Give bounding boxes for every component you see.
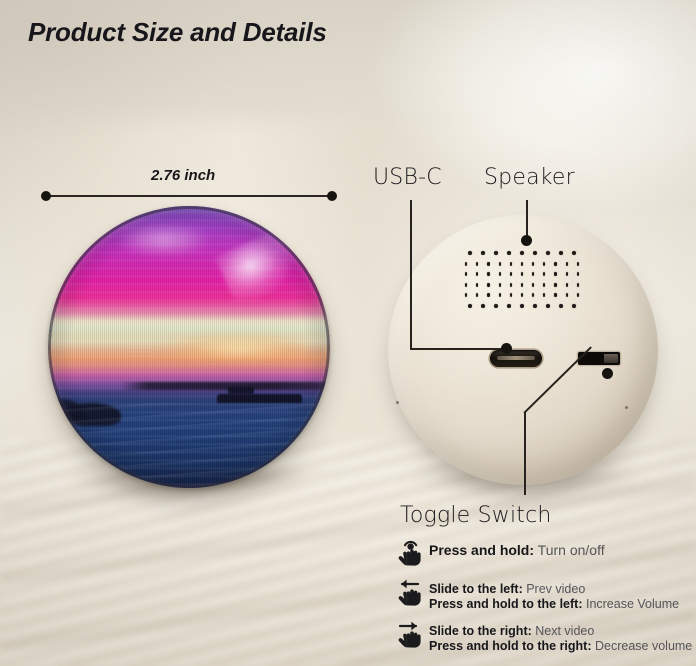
speaker-grille-dot bbox=[554, 262, 556, 266]
speaker-grille-dot bbox=[510, 262, 512, 266]
callout-label-toggle: Toggle Switch bbox=[400, 503, 552, 528]
speaker-grille-dot bbox=[546, 251, 550, 255]
speaker-grille-dot bbox=[566, 272, 568, 276]
toggle-switch-knob[interactable] bbox=[604, 354, 618, 363]
callout-dot-speaker bbox=[521, 235, 532, 246]
speaker-grille-row bbox=[465, 262, 579, 273]
spherical-display bbox=[48, 206, 330, 488]
speaker-grille-row bbox=[465, 283, 579, 294]
callout-line-usbc-horizontal bbox=[410, 348, 506, 350]
speaker-grille-dot bbox=[494, 304, 498, 308]
speaker-grille-dot bbox=[476, 293, 478, 297]
speaker-grille-dot bbox=[532, 293, 534, 297]
speaker-grille-dot bbox=[559, 251, 563, 255]
speaker-grille-dot bbox=[510, 283, 512, 287]
speaker-grille-dot bbox=[476, 272, 478, 276]
gesture-instruction-row: Slide to the right: Next videoPress and … bbox=[396, 617, 692, 653]
gesture-result: Increase Volume bbox=[583, 597, 680, 611]
speaker-grille-dot bbox=[465, 283, 467, 287]
speaker-grille-dot bbox=[476, 262, 478, 266]
speaker-grille-dot bbox=[577, 293, 579, 297]
callout-dot-toggle bbox=[602, 368, 613, 379]
speaker-grille-dot bbox=[465, 293, 467, 297]
product-infographic: Product Size and Details 2.76 inch bbox=[0, 0, 696, 666]
speaker-grille-dot bbox=[532, 283, 534, 287]
speaker-grille-dot bbox=[476, 283, 478, 287]
speaker-grille-dot bbox=[465, 262, 467, 266]
gesture-instruction-line: Press and hold: Turn on/off bbox=[429, 542, 605, 559]
gesture-instruction-text: Press and hold: Turn on/off bbox=[429, 535, 605, 559]
speaker-grille-dot bbox=[566, 283, 568, 287]
usb-c-port bbox=[490, 350, 542, 367]
usb-c-port-contact bbox=[497, 356, 535, 360]
speaker-grille-dot bbox=[468, 304, 472, 308]
gesture-instruction-text: Slide to the right: Next videoPress and … bbox=[429, 617, 692, 653]
gesture-instruction-list: Press and hold: Turn on/offSlide to the … bbox=[396, 535, 692, 659]
callout-label-usbc: USB-C bbox=[373, 165, 442, 190]
speaker-grille-dot bbox=[499, 262, 501, 266]
callout-line-speaker bbox=[526, 200, 528, 238]
speaker-grille-row bbox=[465, 251, 579, 262]
speaker-grille-dot bbox=[533, 251, 537, 255]
dimension-line bbox=[45, 195, 333, 197]
speaker-grille-dot bbox=[468, 251, 472, 255]
callout-label-speaker: Speaker bbox=[484, 165, 575, 190]
speaker-grille-row bbox=[465, 272, 579, 283]
callout-line-toggle-vertical bbox=[524, 412, 526, 495]
gesture-action: Press and hold to the left: bbox=[429, 597, 583, 611]
speaker-grille-dot bbox=[554, 293, 556, 297]
gesture-action: Press and hold to the right: bbox=[429, 639, 592, 653]
callout-line-usbc-vertical bbox=[410, 200, 412, 350]
speaker-grille-dot bbox=[521, 272, 523, 276]
speaker-grille-dot bbox=[521, 293, 523, 297]
speaker-grille-dot bbox=[510, 272, 512, 276]
microphone-pinhole-right bbox=[625, 406, 628, 409]
speaker-grille-dot bbox=[543, 293, 545, 297]
dimension-endpoint-left bbox=[41, 191, 51, 201]
speaker-grille-dot bbox=[559, 304, 563, 308]
speaker-grille-dot bbox=[532, 262, 534, 266]
speaker-grille-dot bbox=[546, 304, 550, 308]
speaker-dot-matrix bbox=[465, 251, 579, 315]
gesture-result: Turn on/off bbox=[534, 542, 605, 558]
speaker-grille-dot bbox=[507, 304, 511, 308]
hand-swipe-right-icon bbox=[396, 617, 422, 651]
speaker-grille-dot bbox=[499, 272, 501, 276]
speaker-grille-dot bbox=[543, 262, 545, 266]
page-title: Product Size and Details bbox=[28, 17, 327, 48]
speaker-grille-dot bbox=[487, 293, 489, 297]
speaker-grille-dot bbox=[521, 262, 523, 266]
dimension-label: 2.76 inch bbox=[151, 167, 215, 184]
speaker-grille-dot bbox=[481, 251, 485, 255]
speaker-grille-dot bbox=[520, 251, 524, 255]
speaker-grille-dot bbox=[499, 293, 501, 297]
speaker-grille-row bbox=[465, 304, 579, 315]
speaker-grille-dot bbox=[521, 283, 523, 287]
speaker-grille-dot bbox=[465, 272, 467, 276]
gesture-instruction-line: Slide to the left: Prev video bbox=[429, 582, 679, 597]
gesture-instruction-line: Press and hold to the right: Decrease vo… bbox=[429, 639, 692, 654]
speaker-grille-dot bbox=[572, 304, 576, 308]
gesture-instruction-row: Press and hold: Turn on/off bbox=[396, 535, 692, 569]
speaker-grille-dot bbox=[507, 251, 511, 255]
speaker-grille-row bbox=[465, 293, 579, 304]
speaker-grille-dot bbox=[543, 283, 545, 287]
speaker-grille-dot bbox=[577, 272, 579, 276]
speaker-grille-dot bbox=[499, 283, 501, 287]
callout-dot-usbc bbox=[501, 343, 512, 354]
speaker-grille-dot bbox=[487, 272, 489, 276]
hand-press-icon bbox=[396, 535, 422, 569]
speaker-grille-dot bbox=[487, 262, 489, 266]
speaker-grille-dot bbox=[494, 251, 498, 255]
speaker-grille-dot bbox=[487, 283, 489, 287]
glass-rim bbox=[48, 206, 330, 488]
gesture-instruction-text: Slide to the left: Prev videoPress and h… bbox=[429, 575, 679, 611]
gesture-action: Slide to the left: bbox=[429, 582, 523, 596]
speaker-grille-dot bbox=[481, 304, 485, 308]
speaker-grille-dot bbox=[577, 283, 579, 287]
speaker-grille-dot bbox=[510, 293, 512, 297]
gesture-result: Next video bbox=[532, 624, 595, 638]
gesture-instruction-line: Slide to the right: Next video bbox=[429, 624, 692, 639]
microphone-pinhole-left bbox=[396, 401, 399, 404]
speaker-grille-dot bbox=[543, 272, 545, 276]
gesture-instruction-line: Press and hold to the left: Increase Vol… bbox=[429, 597, 679, 612]
speaker-grille-dot bbox=[532, 272, 534, 276]
gesture-action: Slide to the right: bbox=[429, 624, 532, 638]
dimension-endpoint-right bbox=[327, 191, 337, 201]
gesture-result: Decrease volume bbox=[592, 639, 693, 653]
speaker-grille-dot bbox=[520, 304, 524, 308]
speaker-grille-dot bbox=[554, 272, 556, 276]
gesture-action: Press and hold: bbox=[429, 542, 534, 558]
hand-swipe-left-icon bbox=[396, 575, 422, 609]
gesture-result: Prev video bbox=[523, 582, 586, 596]
speaker-grille-dot bbox=[572, 251, 576, 255]
gesture-instruction-row: Slide to the left: Prev videoPress and h… bbox=[396, 575, 692, 611]
speaker-grille-dot bbox=[577, 262, 579, 266]
speaker-grille-dot bbox=[566, 262, 568, 266]
speaker-grille-dot bbox=[533, 304, 537, 308]
speaker-grille-dot bbox=[554, 283, 556, 287]
speaker-grille-dot bbox=[566, 293, 568, 297]
